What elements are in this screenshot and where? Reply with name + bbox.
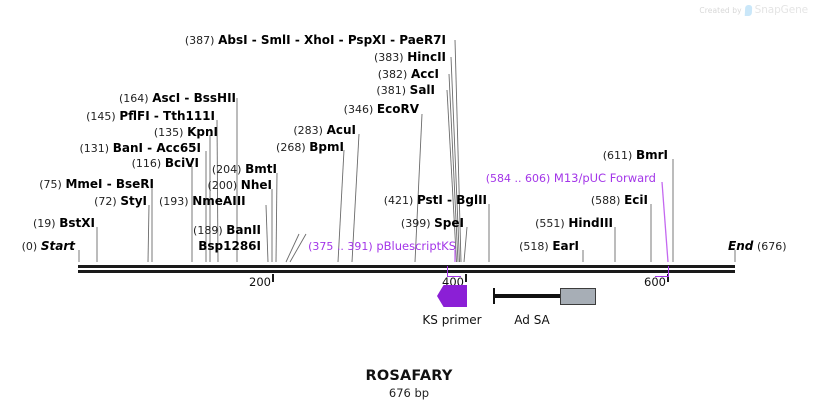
- enzyme-position-189: (189): [193, 224, 223, 237]
- enzyme-label-116[interactable]: (116) BciVI: [132, 157, 199, 170]
- enzyme-label-383[interactable]: (383) HincII: [374, 51, 446, 64]
- sequence-ruler-bar[interactable]: [78, 265, 735, 273]
- enzyme-label-19[interactable]: (19) BstXI: [33, 217, 95, 230]
- ruler-tick-400: [465, 274, 467, 282]
- enzyme-label-399[interactable]: (399) SpeI: [401, 217, 464, 230]
- enzyme-position-383: (383): [374, 51, 404, 64]
- enzyme-label-283[interactable]: (283) AcuI: [293, 124, 356, 137]
- feature-ad-sa-line[interactable]: [493, 294, 563, 298]
- enzyme-label-75[interactable]: (75) MmeI - BseRI: [39, 178, 154, 191]
- enzyme-name-xhoi: XhoI: [304, 33, 335, 47]
- enzyme-name-pflfi: PflFI: [119, 109, 149, 123]
- sequence-name: ROSAFARY: [209, 368, 609, 384]
- primer-bracket-pbluescriptks[interactable]: [447, 266, 461, 277]
- primer-bracket-m13-puc-forward[interactable]: [655, 266, 669, 277]
- enzyme-label-193[interactable]: (193) NmeAIII: [159, 195, 246, 208]
- sequence-length: 676 bp: [209, 386, 609, 400]
- enzyme-name-kpni: KpnI: [187, 125, 218, 139]
- enzyme-label-72[interactable]: (72) StyI: [94, 195, 147, 208]
- enzyme-position-164: (164): [119, 92, 149, 105]
- enzyme-position-204: (204): [212, 163, 242, 176]
- enzyme-name-bpmi: BpmI: [309, 140, 344, 154]
- end-name: End: [728, 239, 753, 253]
- enzyme-name-paer7i: PaeR7I: [399, 33, 446, 47]
- enzyme-name-sali: SalI: [410, 83, 435, 97]
- ruler-tick-label-600: 600: [644, 275, 666, 289]
- enzyme-name-bstxi: BstXI: [59, 216, 95, 230]
- enzyme-position-131: (131): [79, 142, 109, 155]
- enzyme-label-189[interactable]: (189) BanII: [193, 224, 261, 237]
- enzyme-position-588: (588): [591, 194, 621, 207]
- enzyme-position-421: (421): [384, 194, 414, 207]
- enzyme-position-200: (200): [208, 179, 238, 192]
- primer-range-pbluescriptks: (375 .. 391): [308, 240, 373, 253]
- enzyme-position-611: (611): [603, 149, 633, 162]
- enzyme-label-131[interactable]: (131) BanI - Acc65I: [79, 142, 201, 155]
- enzyme-name-styi: StyI: [120, 194, 147, 208]
- enzyme-label-588[interactable]: (588) EciI: [591, 194, 648, 207]
- snapgene-logo-icon: [744, 5, 752, 16]
- primer-name-m13-puc-forward: M13/pUC Forward: [554, 171, 656, 185]
- ruler-tick-200: [272, 274, 274, 282]
- feature-ad-sa-label: Ad SA: [514, 313, 549, 327]
- feature-ad-sa-box[interactable]: [560, 288, 596, 305]
- enzyme-label-421[interactable]: (421) PstI - BglII: [384, 194, 487, 207]
- enzyme-label-135[interactable]: (135) KpnI: [154, 126, 218, 139]
- enzyme-name-eari: EarI: [552, 239, 579, 253]
- enzyme-position-75: (75): [39, 178, 62, 191]
- enzyme-name-ecorv: EcoRV: [377, 102, 419, 116]
- sequence-start-label[interactable]: (0) Start: [22, 240, 75, 253]
- enzyme-name-acc65i: Acc65I: [156, 141, 201, 155]
- enzyme-name-acci: AccI: [411, 67, 439, 81]
- sequence-bar-bottom-strand: [78, 270, 735, 273]
- enzyme-name-asci: AscI: [152, 91, 180, 105]
- enzyme-label-346[interactable]: (346) EcoRV: [344, 103, 419, 116]
- enzyme-label-268[interactable]: (268) BpmI: [276, 141, 344, 154]
- enzyme-name-bsp1286i: Bsp1286I: [198, 239, 261, 253]
- watermark-brand-label: SnapGene: [755, 4, 808, 16]
- primer-label-m13-puc-forward[interactable]: (584 .. 606) M13/pUC Forward: [486, 172, 656, 185]
- sequence-end-label[interactable]: End (676): [728, 240, 787, 253]
- sequence-map-canvas: Created by SnapGene: [0, 0, 818, 408]
- start-name: Start: [41, 239, 75, 253]
- enzyme-name-absi: AbsI: [218, 33, 247, 47]
- enzyme-name-bani: BanI: [113, 141, 143, 155]
- enzyme-position-387: (387): [185, 34, 215, 47]
- enzyme-name-psti: PstI: [417, 193, 443, 207]
- enzyme-position-268: (268): [276, 141, 306, 154]
- enzyme-name-nmeaiii: NmeAIII: [192, 194, 245, 208]
- enzyme-name-pspxi: PspXI: [348, 33, 386, 47]
- enzyme-position-382: (382): [378, 68, 408, 81]
- enzyme-name-banii: BanII: [226, 223, 261, 237]
- enzyme-position-145: (145): [86, 110, 116, 123]
- snapgene-watermark: Created by SnapGene: [699, 4, 808, 16]
- enzyme-label-164[interactable]: (164) AscI - BssHII: [119, 92, 236, 105]
- enzyme-name-mmei: MmeI: [65, 177, 102, 191]
- enzyme-label-200[interactable]: (200) NheI: [208, 179, 272, 192]
- enzyme-name-hincii: HincII: [407, 50, 446, 64]
- primer-range-m13-puc-forward: (584 .. 606): [486, 172, 551, 185]
- enzyme-position-346: (346): [344, 103, 374, 116]
- enzyme-label-611[interactable]: (611) BmrI: [603, 149, 668, 162]
- enzyme-label-551[interactable]: (551) HindIII: [535, 217, 613, 230]
- enzyme-label-381[interactable]: (381) SalI: [376, 84, 435, 97]
- sequence-title-block: ROSAFARY 676 bp: [209, 368, 609, 400]
- enzyme-position-518: (518): [519, 240, 549, 253]
- ruler-tick-label-200: 200: [249, 275, 271, 289]
- enzyme-name-spei: SpeI: [434, 216, 464, 230]
- enzyme-name-bseri: BseRI: [116, 177, 154, 191]
- enzyme-name-smli: SmlI: [261, 33, 291, 47]
- enzyme-position-551: (551): [535, 217, 565, 230]
- end-position: (676): [757, 240, 787, 253]
- enzyme-position-19: (19): [33, 217, 56, 230]
- enzyme-position-399: (399): [401, 217, 431, 230]
- enzyme-name-acui: AcuI: [327, 123, 356, 137]
- watermark-created-by-label: Created by: [699, 6, 741, 15]
- enzyme-name-hindiii: HindIII: [568, 216, 613, 230]
- enzyme-position-135: (135): [154, 126, 184, 139]
- enzyme-name-bmri: BmrI: [636, 148, 668, 162]
- enzyme-position-116: (116): [132, 157, 162, 170]
- enzyme-name-bsshii: BssHII: [194, 91, 236, 105]
- enzyme-name-bmti: BmtI: [245, 162, 277, 176]
- enzyme-label-518[interactable]: (518) EarI: [519, 240, 579, 253]
- enzyme-name-bglii: BglII: [456, 193, 487, 207]
- sequence-bar-top-strand: [78, 265, 735, 268]
- enzyme-label-145[interactable]: (145) PflFI - Tth111I: [86, 110, 215, 123]
- enzyme-position-283: (283): [293, 124, 323, 137]
- start-position: (0): [22, 240, 38, 253]
- primer-label-pbluescriptks[interactable]: (375 .. 391) pBluescriptKS: [308, 240, 456, 253]
- enzyme-label-387[interactable]: (387) AbsI - SmlI - XhoI - PspXI - PaeR7…: [185, 34, 446, 47]
- enzyme-position-193: (193): [159, 195, 189, 208]
- enzyme-name-tth111i: Tth111I: [163, 109, 215, 123]
- primer-name-pbluescriptks: pBluescriptKS: [376, 239, 456, 253]
- enzyme-label-382[interactable]: (382) AccI: [378, 68, 439, 81]
- enzyme-position-381: (381): [376, 84, 406, 97]
- enzyme-label-204[interactable]: (204) BmtI: [212, 163, 277, 176]
- enzyme-name-bcivi: BciVI: [165, 156, 199, 170]
- enzyme-name-ecii: EciI: [624, 193, 648, 207]
- enzyme-label-bsp1286i[interactable]: Bsp1286I: [198, 240, 261, 252]
- enzyme-position-72: (72): [94, 195, 117, 208]
- feature-ks-primer-label: KS primer: [422, 313, 481, 327]
- enzyme-name-nhei: NheI: [241, 178, 272, 192]
